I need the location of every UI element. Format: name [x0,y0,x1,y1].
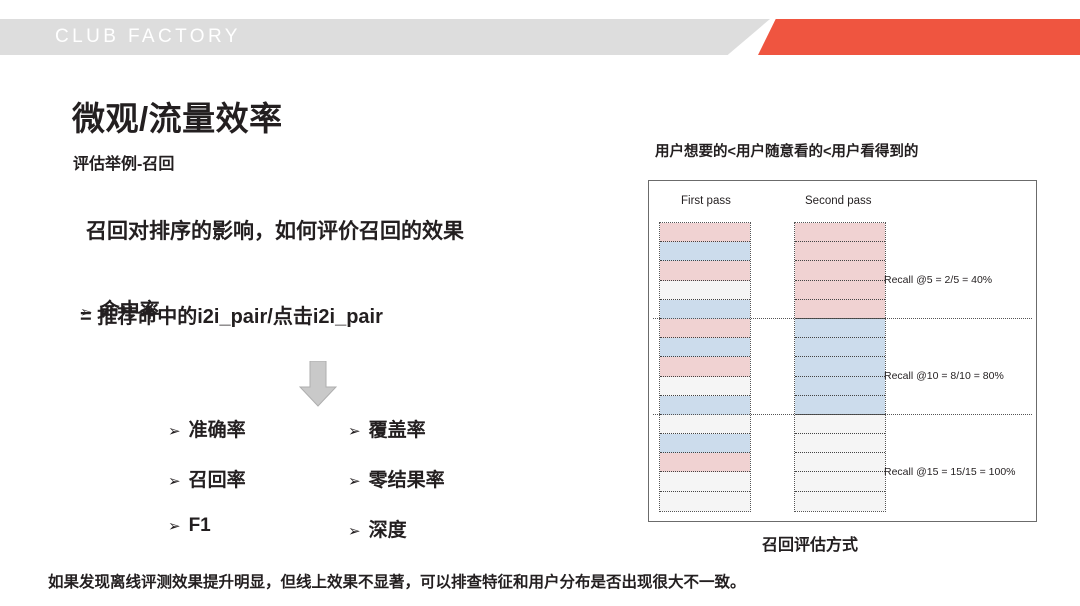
metric-label: 召回率 [189,465,246,492]
first-pass-cell [660,338,750,357]
bullet-arrow-icon: ➢ [348,472,361,490]
second-pass-cell [795,377,885,396]
metric-label: 零结果率 [369,465,445,492]
second-pass-cell [795,396,885,415]
second-pass-cell [795,415,885,434]
first-pass-cell [660,242,750,261]
metric-row: ➢ F1 ➢ 深度 [168,515,528,565]
first-pass-cell [660,261,750,280]
brand-logo-text: CLUB FACTORY [55,19,241,55]
lead-question-text: 召回对排序的影响，如何评价召回的效果 [86,215,464,245]
second-pass-cell [795,281,885,300]
first-pass-cell [660,396,750,415]
first-pass-cell [660,281,750,300]
metric-precision: ➢ 准确率 [168,415,348,442]
second-pass-cell [795,472,885,491]
first-pass-cell [660,319,750,338]
second-pass-cell [795,492,885,511]
metric-label: 深度 [369,515,407,542]
metric-f1: ➢ F1 [168,515,348,537]
bullet-arrow-icon: ➢ [348,422,361,440]
metric-label: 准确率 [189,415,246,442]
second-pass-cell [795,300,885,319]
recall-diagram-panel: First pass Second pass Recall @5 = 2/5 =… [648,180,1037,522]
first-pass-cell [660,223,750,242]
metric-zero-result-rate: ➢ 零结果率 [348,465,528,492]
first-pass-cell [660,377,750,396]
metric-row: ➢ 召回率 ➢ 零结果率 [168,465,528,515]
down-arrow-icon [299,361,337,407]
recall-divider-line [653,414,1032,415]
second-pass-cell [795,338,885,357]
column-header-first-pass: First pass [681,195,731,207]
first-pass-cell [660,300,750,319]
first-pass-column [659,222,751,512]
first-pass-cell [660,472,750,491]
metric-label: 覆盖率 [369,415,426,442]
header-accent-shape [758,19,1080,55]
bullet-arrow-icon: ➢ [348,522,361,540]
metrics-grid: ➢ 准确率 ➢ 覆盖率 ➢ 召回率 ➢ 零结果率 ➢ F1 ➢ 深度 [168,415,528,565]
second-pass-cell [795,223,885,242]
second-pass-cell [795,319,885,338]
metric-label: F1 [189,515,211,537]
first-pass-cell [660,415,750,434]
second-pass-cell [795,242,885,261]
recall-annotation: Recall @15 = 15/15 = 100% [884,466,1016,478]
page-subtitle: 评估举例-召回 [73,150,174,174]
first-pass-cell [660,453,750,472]
page-title: 微观/流量效率 [72,92,283,140]
recall-annotation: Recall @5 = 2/5 = 40% [884,274,992,286]
first-pass-cell [660,434,750,453]
column-header-second-pass: Second pass [805,195,872,207]
second-pass-column [794,222,886,512]
footer-note: 如果发现离线评测效果提升明显，但线上效果不显著，可以排查特征和用户分布是否出现很… [48,570,746,592]
second-pass-cell [795,357,885,376]
metric-depth: ➢ 深度 [348,515,528,542]
first-pass-cell [660,357,750,376]
diagram-bottom-caption: 召回评估方式 [762,531,858,555]
bullet-arrow-icon: ➢ [168,422,181,440]
recall-annotation: Recall @10 = 8/10 = 80% [884,370,1004,382]
recall-divider-line [653,318,1032,319]
metric-row: ➢ 准确率 ➢ 覆盖率 [168,415,528,465]
first-pass-cell [660,492,750,511]
second-pass-cell [795,434,885,453]
metric-recall: ➢ 召回率 [168,465,348,492]
bullet-arrow-icon: ➢ [168,472,181,490]
metric-coverage: ➢ 覆盖率 [348,415,528,442]
second-pass-cell [795,261,885,280]
second-pass-cell [795,453,885,472]
bullet-hit-rate-formula: = 推荐命中的i2i_pair/点击i2i_pair [80,300,383,329]
diagram-top-caption: 用户想要的<用户随意看的<用户看得到的 [655,140,918,161]
bullet-arrow-icon: ➢ [168,517,181,535]
